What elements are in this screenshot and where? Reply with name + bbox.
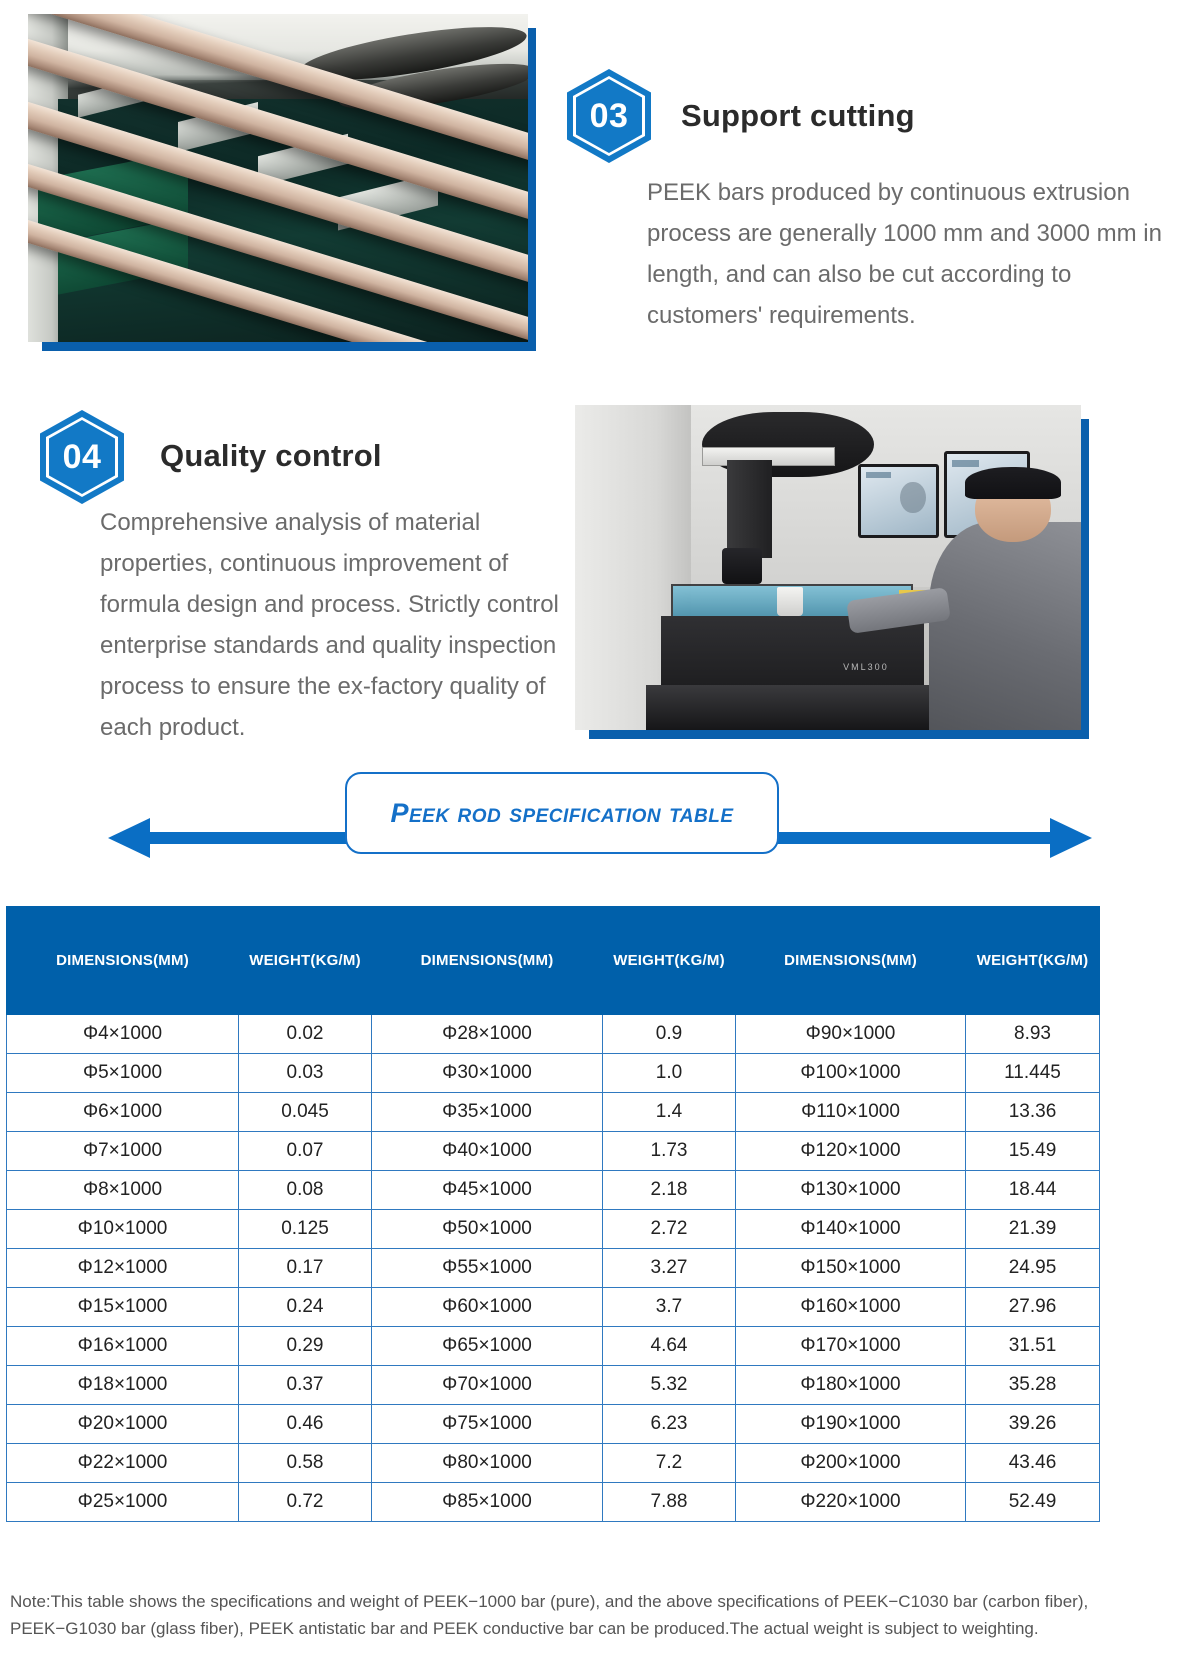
table-cell-r3-c5: 15.49 bbox=[966, 1132, 1100, 1171]
table-cell-r0-c5: 8.93 bbox=[966, 1015, 1100, 1054]
table-cell-r9-c5: 35.28 bbox=[966, 1366, 1100, 1405]
peek-rod-spec-table: DIMENSIONS(MM)WEIGHT(KG/M)DIMENSIONS(MM)… bbox=[6, 906, 1100, 1522]
section-badge-03: 03 bbox=[567, 69, 651, 163]
table-cell-r9-c0: Φ18×1000 bbox=[7, 1366, 239, 1405]
table-cell-r4-c1: 0.08 bbox=[239, 1171, 372, 1210]
section-body-03: PEEK bars produced by continuous extrusi… bbox=[647, 172, 1167, 336]
table-cell-r0-c0: Φ4×1000 bbox=[7, 1015, 239, 1054]
table-cell-r12-c2: Φ85×1000 bbox=[372, 1483, 603, 1522]
table-cell-r8-c4: Φ170×1000 bbox=[736, 1327, 966, 1366]
table-cell-r11-c2: Φ80×1000 bbox=[372, 1444, 603, 1483]
machine-model-label: VML300 bbox=[843, 662, 889, 672]
table-cell-r3-c1: 0.07 bbox=[239, 1132, 372, 1171]
table-cell-r10-c4: Φ190×1000 bbox=[736, 1405, 966, 1444]
table-cell-r11-c1: 0.58 bbox=[239, 1444, 372, 1483]
table-cell-r0-c1: 0.02 bbox=[239, 1015, 372, 1054]
table-cell-r5-c0: Φ10×1000 bbox=[7, 1210, 239, 1249]
spec-table-wrapper: DIMENSIONS(MM)WEIGHT(KG/M)DIMENSIONS(MM)… bbox=[6, 906, 1099, 1522]
table-cell-r2-c1: 0.045 bbox=[239, 1093, 372, 1132]
table-cell-r11-c5: 43.46 bbox=[966, 1444, 1100, 1483]
table-header-cell-4: DIMENSIONS(MM) bbox=[736, 907, 966, 1015]
table-cell-r1-c4: Φ100×1000 bbox=[736, 1054, 966, 1093]
table-cell-r1-c3: 1.0 bbox=[603, 1054, 736, 1093]
table-cell-r6-c0: Φ12×1000 bbox=[7, 1249, 239, 1288]
rods-image bbox=[28, 14, 528, 342]
table-row: Φ8×10000.08Φ45×10002.18Φ130×100018.44 bbox=[7, 1171, 1100, 1210]
table-header-cell-5: WEIGHT(KG/M) bbox=[966, 907, 1100, 1015]
table-row: Φ15×10000.24Φ60×10003.7Φ160×100027.96 bbox=[7, 1288, 1100, 1327]
table-cell-r10-c1: 0.46 bbox=[239, 1405, 372, 1444]
table-row: Φ22×10000.58Φ80×10007.2Φ200×100043.46 bbox=[7, 1444, 1100, 1483]
photo-accent-right-2 bbox=[1081, 419, 1089, 739]
table-cell-r2-c4: Φ110×1000 bbox=[736, 1093, 966, 1132]
table-cell-r5-c3: 2.72 bbox=[603, 1210, 736, 1249]
section-title-04: Quality control bbox=[160, 438, 580, 474]
table-cell-r11-c3: 7.2 bbox=[603, 1444, 736, 1483]
table-cell-r5-c1: 0.125 bbox=[239, 1210, 372, 1249]
table-cell-r7-c5: 27.96 bbox=[966, 1288, 1100, 1327]
section-body-04: Comprehensive analysis of material prope… bbox=[100, 502, 570, 748]
table-cell-r4-c2: Φ45×1000 bbox=[372, 1171, 603, 1210]
table-cell-r1-c0: Φ5×1000 bbox=[7, 1054, 239, 1093]
table-cell-r8-c2: Φ65×1000 bbox=[372, 1327, 603, 1366]
section-number-03: 03 bbox=[567, 69, 651, 163]
table-note: Note:This table shows the specifications… bbox=[10, 1588, 1185, 1642]
table-cell-r1-c5: 11.445 bbox=[966, 1054, 1100, 1093]
quality-control-photo: VML300 bbox=[575, 405, 1081, 730]
table-cell-r2-c2: Φ35×1000 bbox=[372, 1093, 603, 1132]
table-row: Φ10×10000.125Φ50×10002.72Φ140×100021.39 bbox=[7, 1210, 1100, 1249]
monitor-left bbox=[858, 464, 939, 539]
table-cell-r11-c0: Φ22×1000 bbox=[7, 1444, 239, 1483]
table-cell-r9-c3: 5.32 bbox=[603, 1366, 736, 1405]
table-cell-r3-c2: Φ40×1000 bbox=[372, 1132, 603, 1171]
table-cell-r4-c3: 2.18 bbox=[603, 1171, 736, 1210]
table-cell-r10-c0: Φ20×1000 bbox=[7, 1405, 239, 1444]
table-row: Φ25×10000.72Φ85×10007.88Φ220×100052.49 bbox=[7, 1483, 1100, 1522]
table-cell-r6-c1: 0.17 bbox=[239, 1249, 372, 1288]
photo-accent-bottom-2 bbox=[589, 730, 1089, 739]
table-header-cell-2: DIMENSIONS(MM) bbox=[372, 907, 603, 1015]
table-header-cell-3: WEIGHT(KG/M) bbox=[603, 907, 736, 1015]
table-cell-r12-c4: Φ220×1000 bbox=[736, 1483, 966, 1522]
table-cell-r5-c5: 21.39 bbox=[966, 1210, 1100, 1249]
table-cell-r8-c5: 31.51 bbox=[966, 1327, 1100, 1366]
table-cell-r5-c2: Φ50×1000 bbox=[372, 1210, 603, 1249]
table-cell-r8-c0: Φ16×1000 bbox=[7, 1327, 239, 1366]
table-cell-r0-c4: Φ90×1000 bbox=[736, 1015, 966, 1054]
product-spec-page: 03 Support cutting PEEK bars produced by… bbox=[0, 0, 1200, 1668]
table-row: Φ20×10000.46Φ75×10006.23Φ190×100039.26 bbox=[7, 1405, 1100, 1444]
table-cell-r12-c3: 7.88 bbox=[603, 1483, 736, 1522]
table-row: Φ5×10000.03Φ30×10001.0Φ100×100011.445 bbox=[7, 1054, 1100, 1093]
table-cell-r12-c0: Φ25×1000 bbox=[7, 1483, 239, 1522]
table-row: Φ16×10000.29Φ65×10004.64Φ170×100031.51 bbox=[7, 1327, 1100, 1366]
table-cell-r8-c1: 0.29 bbox=[239, 1327, 372, 1366]
table-header-cell-0: DIMENSIONS(MM) bbox=[7, 907, 239, 1015]
section-title-03: Support cutting bbox=[681, 98, 1161, 134]
table-cell-r3-c0: Φ7×1000 bbox=[7, 1132, 239, 1171]
table-cell-r4-c0: Φ8×1000 bbox=[7, 1171, 239, 1210]
table-cell-r0-c3: 0.9 bbox=[603, 1015, 736, 1054]
inspection-image: VML300 bbox=[575, 405, 1081, 730]
table-body: Φ4×10000.02Φ28×10000.9Φ90×10008.93Φ5×100… bbox=[7, 1015, 1100, 1522]
table-cell-r0-c2: Φ28×1000 bbox=[372, 1015, 603, 1054]
table-cell-r9-c1: 0.37 bbox=[239, 1366, 372, 1405]
table-cell-r2-c5: 13.36 bbox=[966, 1093, 1100, 1132]
photo-accent-bottom bbox=[42, 342, 536, 351]
table-cell-r2-c3: 1.4 bbox=[603, 1093, 736, 1132]
table-cell-r5-c4: Φ140×1000 bbox=[736, 1210, 966, 1249]
section-number-04: 04 bbox=[40, 410, 124, 504]
table-row: Φ4×10000.02Φ28×10000.9Φ90×10008.93 bbox=[7, 1015, 1100, 1054]
section-support-cutting: 03 Support cutting PEEK bars produced by… bbox=[0, 0, 1200, 372]
table-cell-r4-c4: Φ130×1000 bbox=[736, 1171, 966, 1210]
table-cell-r6-c2: Φ55×1000 bbox=[372, 1249, 603, 1288]
table-cell-r12-c1: 0.72 bbox=[239, 1483, 372, 1522]
table-cell-r8-c3: 4.64 bbox=[603, 1327, 736, 1366]
support-cutting-photo bbox=[28, 14, 528, 342]
table-cell-r9-c4: Φ180×1000 bbox=[736, 1366, 966, 1405]
table-row: Φ7×10000.07Φ40×10001.73Φ120×100015.49 bbox=[7, 1132, 1100, 1171]
table-cell-r12-c5: 52.49 bbox=[966, 1483, 1100, 1522]
arrow-left-icon bbox=[108, 818, 150, 858]
table-cell-r2-c0: Φ6×1000 bbox=[7, 1093, 239, 1132]
table-cell-r7-c4: Φ160×1000 bbox=[736, 1288, 966, 1327]
table-cell-r1-c1: 0.03 bbox=[239, 1054, 372, 1093]
table-cell-r4-c5: 18.44 bbox=[966, 1171, 1100, 1210]
table-cell-r7-c2: Φ60×1000 bbox=[372, 1288, 603, 1327]
banner-title: Peek rod specification table bbox=[390, 798, 733, 829]
table-row: Φ6×10000.045Φ35×10001.4Φ110×100013.36 bbox=[7, 1093, 1100, 1132]
table-cell-r7-c1: 0.24 bbox=[239, 1288, 372, 1327]
arrow-right-icon bbox=[1050, 818, 1092, 858]
table-cell-r11-c4: Φ200×1000 bbox=[736, 1444, 966, 1483]
table-cell-r10-c3: 6.23 bbox=[603, 1405, 736, 1444]
table-row: Φ12×10000.17Φ55×10003.27Φ150×100024.95 bbox=[7, 1249, 1100, 1288]
table-cell-r6-c5: 24.95 bbox=[966, 1249, 1100, 1288]
table-cell-r10-c2: Φ75×1000 bbox=[372, 1405, 603, 1444]
table-cell-r3-c3: 1.73 bbox=[603, 1132, 736, 1171]
photo-accent-right bbox=[528, 28, 536, 351]
table-cell-r1-c2: Φ30×1000 bbox=[372, 1054, 603, 1093]
table-row: Φ18×10000.37Φ70×10005.32Φ180×100035.28 bbox=[7, 1366, 1100, 1405]
table-cell-r6-c4: Φ150×1000 bbox=[736, 1249, 966, 1288]
table-cell-r7-c0: Φ15×1000 bbox=[7, 1288, 239, 1327]
table-cell-r3-c4: Φ120×1000 bbox=[736, 1132, 966, 1171]
section-quality-control: 04 Quality control Comprehensive analysi… bbox=[0, 390, 1200, 760]
table-cell-r7-c3: 3.7 bbox=[603, 1288, 736, 1327]
section-badge-04: 04 bbox=[40, 410, 124, 504]
table-header-row: DIMENSIONS(MM)WEIGHT(KG/M)DIMENSIONS(MM)… bbox=[7, 907, 1100, 1015]
banner-label-box: Peek rod specification table bbox=[345, 772, 779, 854]
table-cell-r9-c2: Φ70×1000 bbox=[372, 1366, 603, 1405]
table-cell-r6-c3: 3.27 bbox=[603, 1249, 736, 1288]
table-cell-r10-c5: 39.26 bbox=[966, 1405, 1100, 1444]
table-header-cell-1: WEIGHT(KG/M) bbox=[239, 907, 372, 1015]
